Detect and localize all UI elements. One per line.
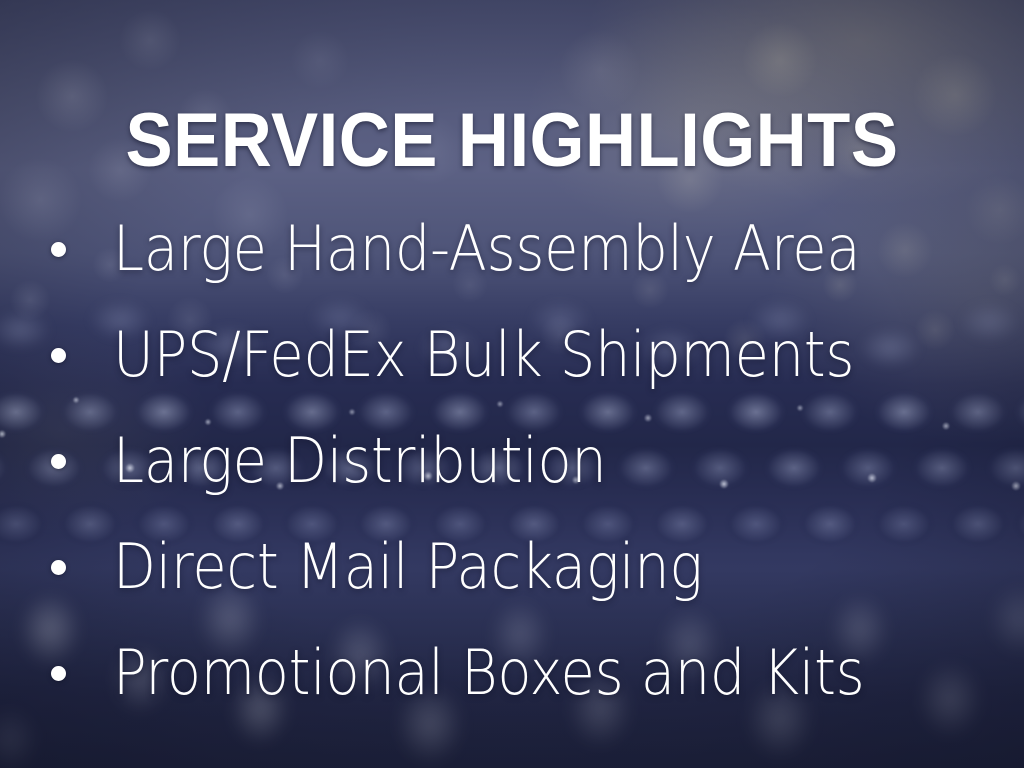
presentation-slide: SERVICE HIGHLIGHTS Large Hand-Assembly A… [0, 0, 1024, 768]
list-item: Large Hand-Assembly Area [0, 196, 1024, 302]
bullet-dot-icon [51, 560, 66, 575]
bullet-dot-icon [51, 242, 66, 257]
bullet-dot-icon [51, 666, 66, 681]
list-item-label: Large Hand-Assembly Area [113, 217, 860, 280]
slide-title: SERVICE HIGHLIGHTS [36, 103, 988, 179]
slide-content: SERVICE HIGHLIGHTS Large Hand-Assembly A… [0, 0, 1024, 768]
list-item-label: Promotional Boxes and Kits [113, 641, 864, 704]
list-item-label: Large Distribution [113, 429, 606, 492]
service-highlights-list: Large Hand-Assembly Area UPS/FedEx Bulk … [0, 196, 1024, 726]
list-item-label: UPS/FedEx Bulk Shipments [113, 323, 854, 386]
list-item: UPS/FedEx Bulk Shipments [0, 302, 1024, 408]
list-item: Large Distribution [0, 408, 1024, 514]
bullet-dot-icon [51, 454, 66, 469]
list-item-label: Direct Mail Packaging [113, 535, 703, 598]
bullet-dot-icon [51, 348, 66, 363]
list-item: Direct Mail Packaging [0, 514, 1024, 620]
list-item: Promotional Boxes and Kits [0, 620, 1024, 726]
